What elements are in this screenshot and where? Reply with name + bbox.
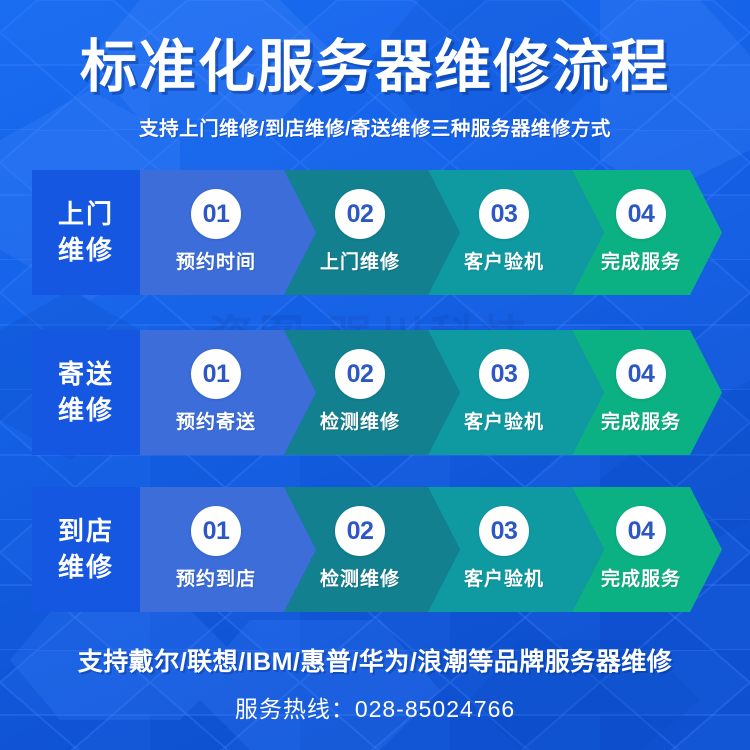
flow-row-mailin: 寄送 维修 01 预约寄送 02 检测维修 03 客户验机	[32, 330, 722, 455]
step-number-badge: 01	[191, 349, 241, 399]
chevron-band: 01 预约时间 02 上门维修 03 客户验机 04 完成服务	[140, 170, 722, 295]
step-label: 完成服务	[601, 564, 681, 591]
step-label: 上门维修	[320, 247, 400, 274]
step-label: 检测维修	[320, 564, 400, 591]
footer-banner: 支持戴尔/联想/IBM/惠普/华为/浪潮等品牌服务器维修 服务热线：028-85…	[0, 630, 750, 750]
row-label-line2: 维修	[58, 233, 114, 268]
step-number-badge: 04	[616, 189, 666, 239]
step-number-badge: 04	[616, 349, 666, 399]
step-label: 客户验机	[464, 407, 544, 434]
step-number-badge: 03	[479, 506, 529, 556]
chevron-band: 01 预约到店 02 检测维修 03 客户验机 04 完成服务	[140, 487, 722, 612]
chevron-band: 01 预约寄送 02 检测维修 03 客户验机 04 完成服务	[140, 330, 722, 455]
step-number-badge: 01	[191, 506, 241, 556]
row-label-line2: 维修	[58, 393, 114, 428]
step-label: 预约时间	[176, 247, 256, 274]
step-label: 检测维修	[320, 407, 400, 434]
step-label: 完成服务	[601, 247, 681, 274]
flow-step-1[interactable]: 01 预约时间	[140, 170, 316, 295]
row-label-line2: 维修	[58, 550, 114, 585]
step-label: 客户验机	[464, 247, 544, 274]
page-subtitle: 支持上门维修/到店维修/寄送维修三种服务器维修方式	[139, 112, 611, 141]
row-label-instore: 到店 维修	[32, 487, 140, 612]
step-number-badge: 02	[335, 506, 385, 556]
header-banner: 标准化服务器维修流程 支持上门维修/到店维修/寄送维修三种服务器维修方式	[0, 0, 750, 165]
flow-row-instore: 到店 维修 01 预约到店 02 检测维修 03 客户验机	[32, 487, 722, 612]
step-label: 预约寄送	[176, 407, 256, 434]
flow-row-onsite: 上门 维修 01 预约时间 02 上门维修 03 客户验机	[32, 170, 722, 295]
row-label-line1: 到店	[58, 514, 114, 549]
row-label-line1: 上门	[58, 197, 114, 232]
supported-brands-text: 支持戴尔/联想/IBM/惠普/华为/浪潮等品牌服务器维修	[78, 642, 673, 678]
step-number-badge: 01	[191, 189, 241, 239]
step-number-badge: 04	[616, 506, 666, 556]
step-number-badge: 03	[479, 349, 529, 399]
page-title: 标准化服务器维修流程	[80, 38, 670, 98]
row-label-mailin: 寄送 维修	[32, 330, 140, 455]
flow-step-1[interactable]: 01 预约寄送	[140, 330, 316, 455]
service-hotline-text: 服务热线：028-85024766	[235, 690, 515, 724]
step-label: 预约到店	[176, 564, 256, 591]
flow-step-1[interactable]: 01 预约到店	[140, 487, 316, 612]
row-label-line1: 寄送	[58, 357, 114, 392]
step-number-badge: 02	[335, 349, 385, 399]
step-label: 完成服务	[601, 407, 681, 434]
step-number-badge: 02	[335, 189, 385, 239]
step-label: 客户验机	[464, 564, 544, 591]
row-label-onsite: 上门 维修	[32, 170, 140, 295]
step-number-badge: 03	[479, 189, 529, 239]
